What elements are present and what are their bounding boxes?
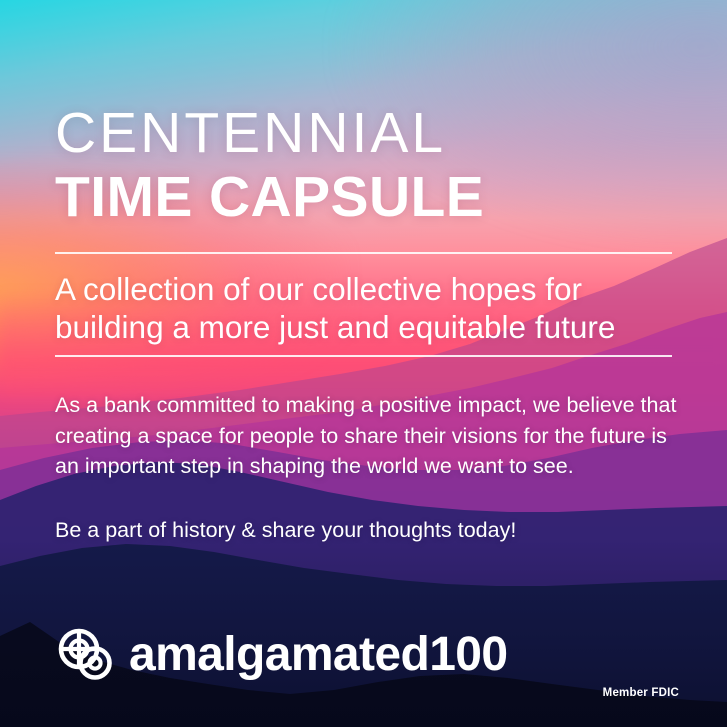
body-paragraph: As a bank committed to making a positive…: [55, 390, 677, 482]
title-line-centennial: CENTENNIAL: [55, 104, 672, 163]
fdic-disclosure: Member FDIC: [603, 687, 679, 699]
divider-below-subtitle: [55, 355, 672, 357]
logo-wordmark: amalgamated100: [129, 631, 507, 679]
time-capsule-poster: CENTENNIAL TIME CAPSULE A collection of …: [0, 0, 727, 727]
divider-above-subtitle: [55, 252, 672, 254]
poster-content: CENTENNIAL TIME CAPSULE A collection of …: [0, 0, 727, 727]
amalgamated-rings-icon: [55, 625, 117, 685]
brand-logo-lockup[interactable]: amalgamated100: [55, 625, 507, 685]
title-line-time-capsule: TIME CAPSULE: [55, 166, 672, 229]
subtitle: A collection of our collective hopes for…: [55, 270, 682, 347]
call-to-action-text: Be a part of history & share your though…: [55, 515, 677, 546]
page-title: CENTENNIAL TIME CAPSULE: [55, 104, 672, 229]
